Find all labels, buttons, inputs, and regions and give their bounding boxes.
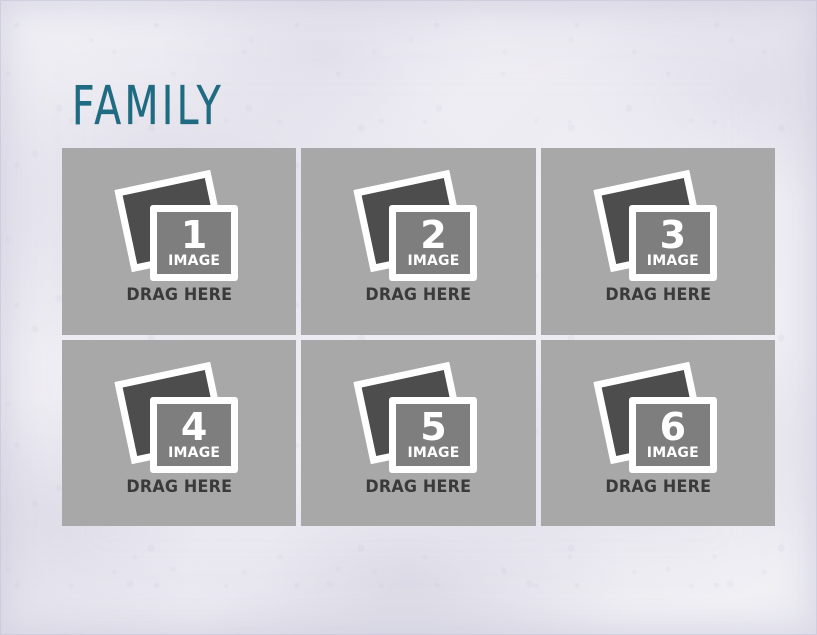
slot-word: IMAGE: [647, 446, 699, 460]
image-placeholder-icon: 2 IMAGE: [359, 177, 477, 279]
image-placeholder-icon: 5 IMAGE: [359, 369, 477, 471]
drag-here-label: DRAG HERE: [366, 285, 472, 305]
slot-number: 5: [420, 410, 446, 445]
photo-front-frame-icon: 1 IMAGE: [150, 205, 238, 281]
slot-word: IMAGE: [168, 446, 220, 460]
image-drop-slot-4[interactable]: 4 IMAGE DRAG HERE: [62, 340, 296, 527]
photo-front-frame-icon: 5 IMAGE: [389, 397, 477, 473]
slot-number: 3: [660, 218, 686, 253]
image-placeholder-icon: 3 IMAGE: [599, 177, 717, 279]
drag-here-label: DRAG HERE: [605, 285, 711, 305]
slot-number: 2: [420, 218, 446, 253]
page-canvas: FAMILY 1 IMAGE DRAG HERE 2 IMAGE DR: [0, 0, 817, 635]
photo-front-frame-icon: 3 IMAGE: [629, 205, 717, 281]
image-drop-grid: 1 IMAGE DRAG HERE 2 IMAGE DRAG HERE: [62, 148, 775, 526]
drag-here-label: DRAG HERE: [126, 477, 232, 497]
image-drop-slot-5[interactable]: 5 IMAGE DRAG HERE: [301, 340, 535, 527]
drag-here-label: DRAG HERE: [366, 477, 472, 497]
slot-number: 6: [660, 410, 686, 445]
slot-number: 4: [181, 410, 207, 445]
image-placeholder-icon: 4 IMAGE: [120, 369, 238, 471]
page-title: FAMILY: [72, 79, 224, 133]
image-placeholder-icon: 6 IMAGE: [599, 369, 717, 471]
photo-front-frame-icon: 4 IMAGE: [150, 397, 238, 473]
slot-word: IMAGE: [647, 254, 699, 268]
slot-word: IMAGE: [407, 254, 459, 268]
drag-here-label: DRAG HERE: [605, 477, 711, 497]
image-drop-slot-2[interactable]: 2 IMAGE DRAG HERE: [301, 148, 535, 335]
photo-front-frame-icon: 6 IMAGE: [629, 397, 717, 473]
image-drop-slot-3[interactable]: 3 IMAGE DRAG HERE: [541, 148, 775, 335]
image-placeholder-icon: 1 IMAGE: [120, 177, 238, 279]
image-drop-slot-1[interactable]: 1 IMAGE DRAG HERE: [62, 148, 296, 335]
photo-front-frame-icon: 2 IMAGE: [389, 205, 477, 281]
image-drop-slot-6[interactable]: 6 IMAGE DRAG HERE: [541, 340, 775, 527]
drag-here-label: DRAG HERE: [126, 285, 232, 305]
slot-word: IMAGE: [168, 254, 220, 268]
slot-word: IMAGE: [407, 446, 459, 460]
slot-number: 1: [181, 218, 207, 253]
